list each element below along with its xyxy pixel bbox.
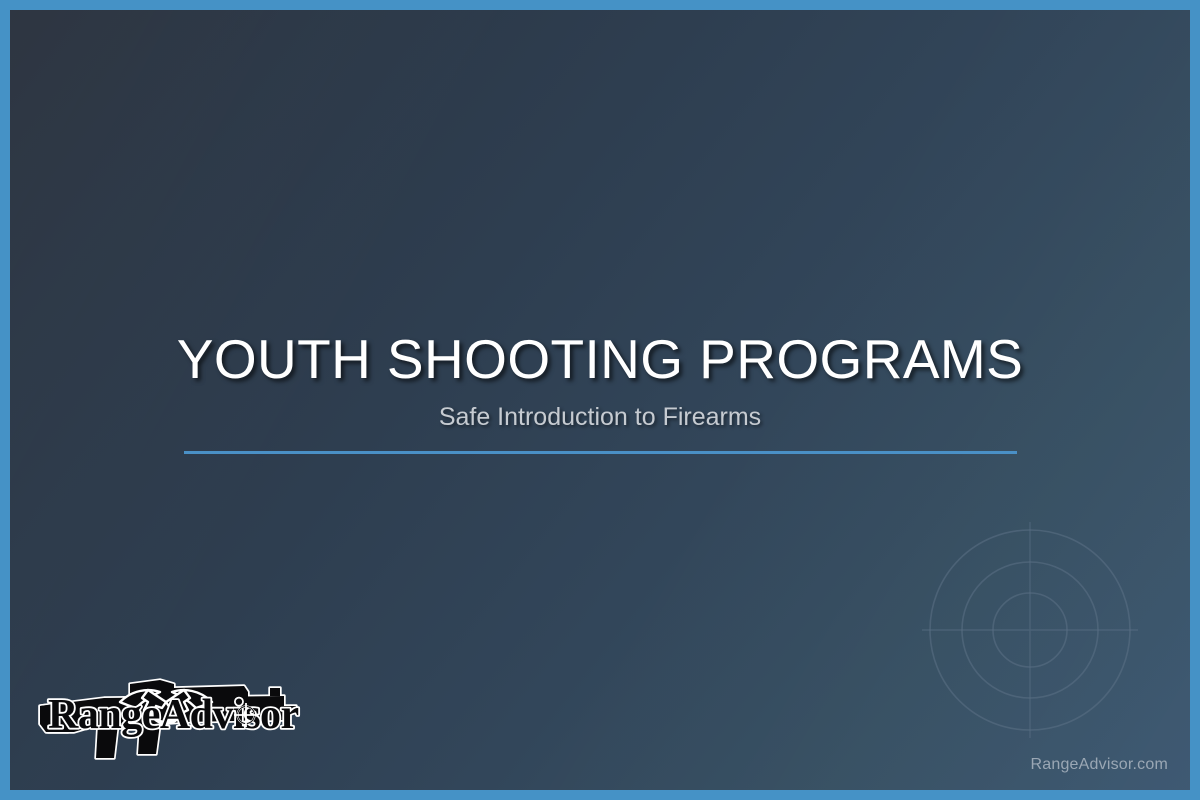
slide-canvas: YOUTH SHOOTING PROGRAMS Safe Introductio… [10, 10, 1190, 790]
logo-wordmark: RangeAdvisor RangeAdvisor [48, 692, 299, 738]
brand-logo: RangeAdvisor RangeAdvisor [34, 662, 314, 772]
footer-credit: RangeAdvisor.com [1031, 756, 1169, 774]
slide-frame: YOUTH SHOOTING PROGRAMS Safe Introductio… [0, 0, 1200, 800]
svg-text:RangeAdvisor: RangeAdvisor [48, 692, 299, 738]
title-divider [184, 451, 1017, 454]
page-title: YOUTH SHOOTING PROGRAMS [10, 330, 1190, 388]
page-subtitle: Safe Introduction to Firearms [10, 403, 1190, 432]
title-block: YOUTH SHOOTING PROGRAMS Safe Introductio… [10, 330, 1190, 454]
target-reticle-watermark-icon [920, 520, 1140, 740]
